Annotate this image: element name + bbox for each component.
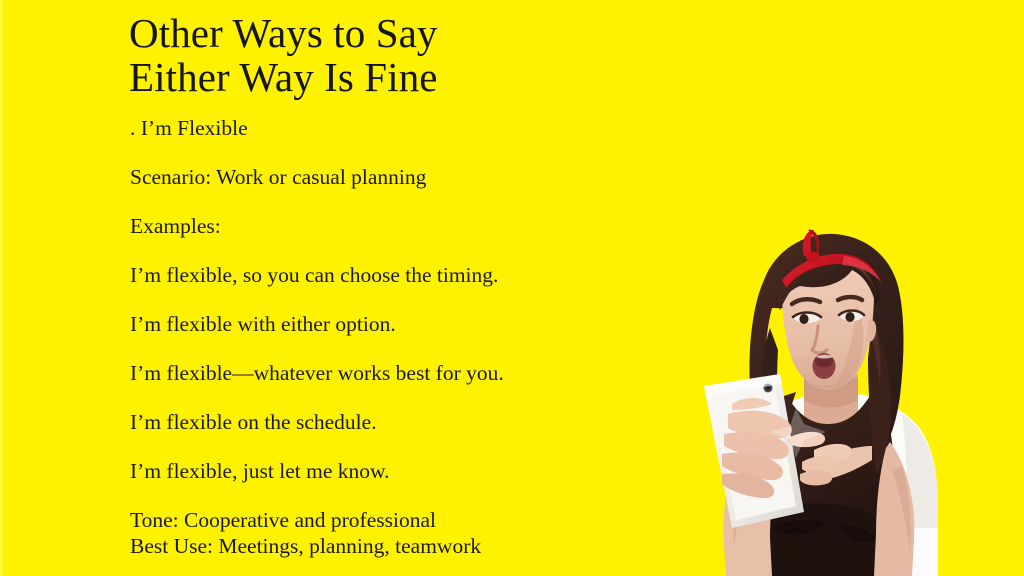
body-example-2: I’m flexible with either option. [130,312,690,337]
body-examples-label: Examples: [130,214,690,239]
body-example-5: I’m flexible, just let me know. [130,459,690,484]
subject-photo [676,228,976,576]
slide-canvas: Other Ways to Say Either Way Is Fine . I… [0,0,1024,576]
body-scenario: Scenario: Work or casual planning [130,165,690,190]
page-title: Other Ways to Say Either Way Is Fine [129,11,689,99]
body-example-1: I’m flexible, so you can choose the timi… [130,263,690,288]
title-line-1: Other Ways to Say [129,11,689,55]
body-content: . I’m Flexible Scenario: Work or casual … [130,116,690,559]
subject-illustration [676,228,976,576]
body-heading: . I’m Flexible [130,116,690,141]
body-example-3: I’m flexible—whatever works best for you… [130,361,690,386]
body-tone: Tone: Cooperative and professional [130,508,690,533]
body-example-4: I’m flexible on the schedule. [130,410,690,435]
title-line-2: Either Way Is Fine [129,55,689,99]
left-edge-sliver [0,0,3,576]
text-column: Other Ways to Say Either Way Is Fine . I… [129,0,689,576]
body-best-use: Best Use: Meetings, planning, teamwork [130,534,690,559]
